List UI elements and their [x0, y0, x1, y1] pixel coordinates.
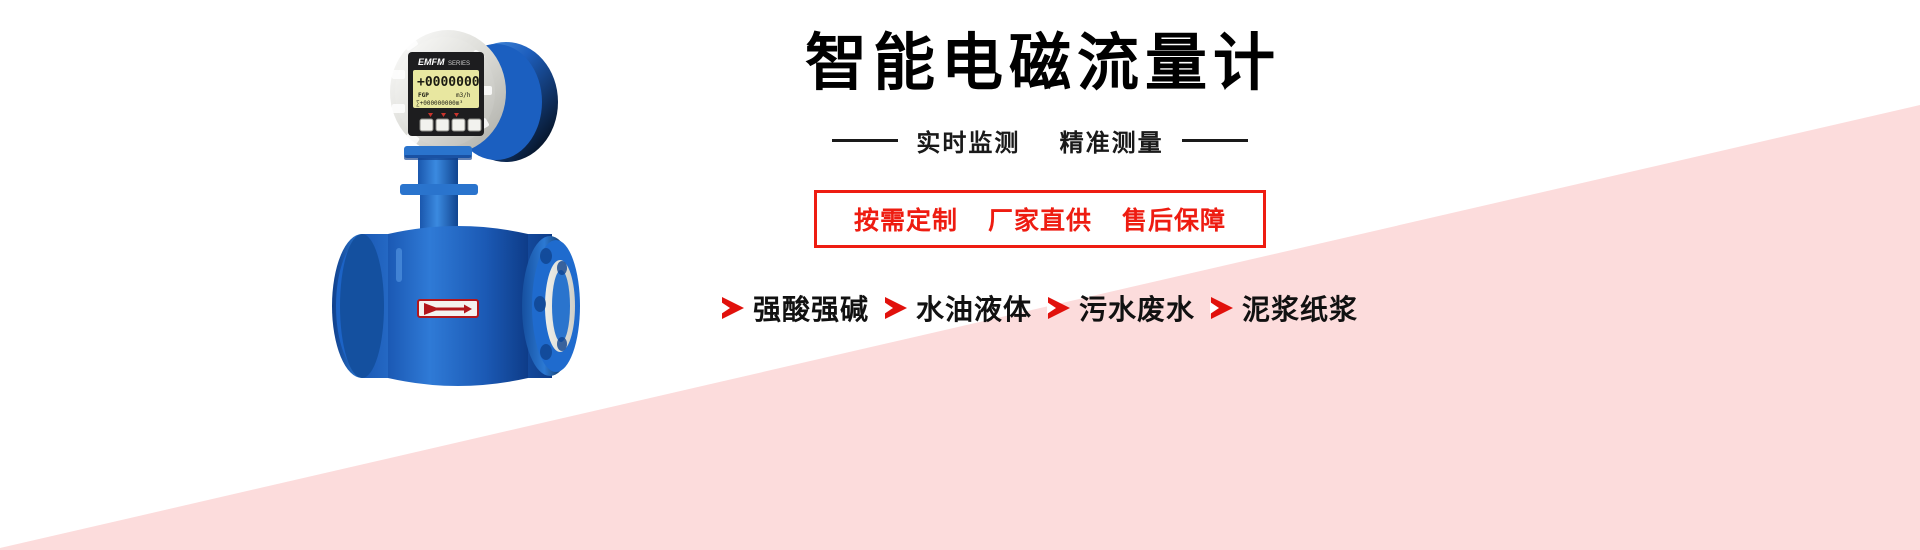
rule-right [1182, 139, 1248, 142]
feature-label: 污水废水 [1079, 288, 1195, 328]
promise-box: 按需定制 厂家直供 售后保障 [814, 190, 1266, 248]
feature-label: 泥浆纸浆 [1242, 288, 1358, 328]
electromagnetic-flowmeter-illustration: EMFM SERIES +0000000 FGP m3/h ∑+00000000… [300, 4, 660, 424]
triangle-right-icon [1048, 297, 1070, 319]
banner-copy: 智能电磁流量计 实时监测 精准测量 按需定制 厂家直供 售后保障 强酸强碱 [660, 28, 1420, 328]
triangle-right-icon [722, 297, 744, 319]
svg-text:m3/h: m3/h [456, 92, 471, 99]
feature-label: 强酸强碱 [753, 288, 869, 328]
page-title: 智能电磁流量计 [660, 28, 1420, 99]
svg-text:EMFM: EMFM [418, 57, 445, 67]
triangle-right-icon [1211, 297, 1233, 319]
feature-list: 强酸强碱 水油液体 污水废水 泥浆纸浆 [660, 288, 1420, 328]
svg-text:+0000000: +0000000 [417, 75, 480, 90]
subtitle: 实时监测 精准测量 [916, 123, 1163, 158]
feature-item-slurry-pulp: 泥浆纸浆 [1211, 288, 1358, 328]
feature-item-acid-alkali: 强酸强碱 [722, 288, 869, 328]
svg-text:SERIES: SERIES [448, 61, 470, 67]
triangle-right-icon [885, 297, 907, 319]
promise-item-custom: 按需定制 [854, 201, 958, 237]
subtitle-right: 精准测量 [1060, 130, 1164, 157]
promise-item-warranty: 售后保障 [1122, 201, 1226, 237]
svg-text:∑+000000000m³: ∑+000000000m³ [416, 100, 463, 107]
feature-item-water-oil: 水油液体 [885, 288, 1032, 328]
promo-banner: EMFM SERIES +0000000 FGP m3/h ∑+00000000… [0, 0, 1920, 550]
promise-item-factory: 厂家直供 [988, 201, 1092, 237]
subtitle-row: 实时监测 精准测量 [660, 123, 1420, 158]
subtitle-left: 实时监测 [916, 130, 1020, 157]
promise-list: 按需定制 厂家直供 售后保障 [854, 201, 1226, 237]
feature-item-sewage: 污水废水 [1048, 288, 1195, 328]
rule-left [832, 139, 898, 142]
svg-text:FGP: FGP [418, 92, 429, 99]
feature-label: 水油液体 [916, 288, 1032, 328]
